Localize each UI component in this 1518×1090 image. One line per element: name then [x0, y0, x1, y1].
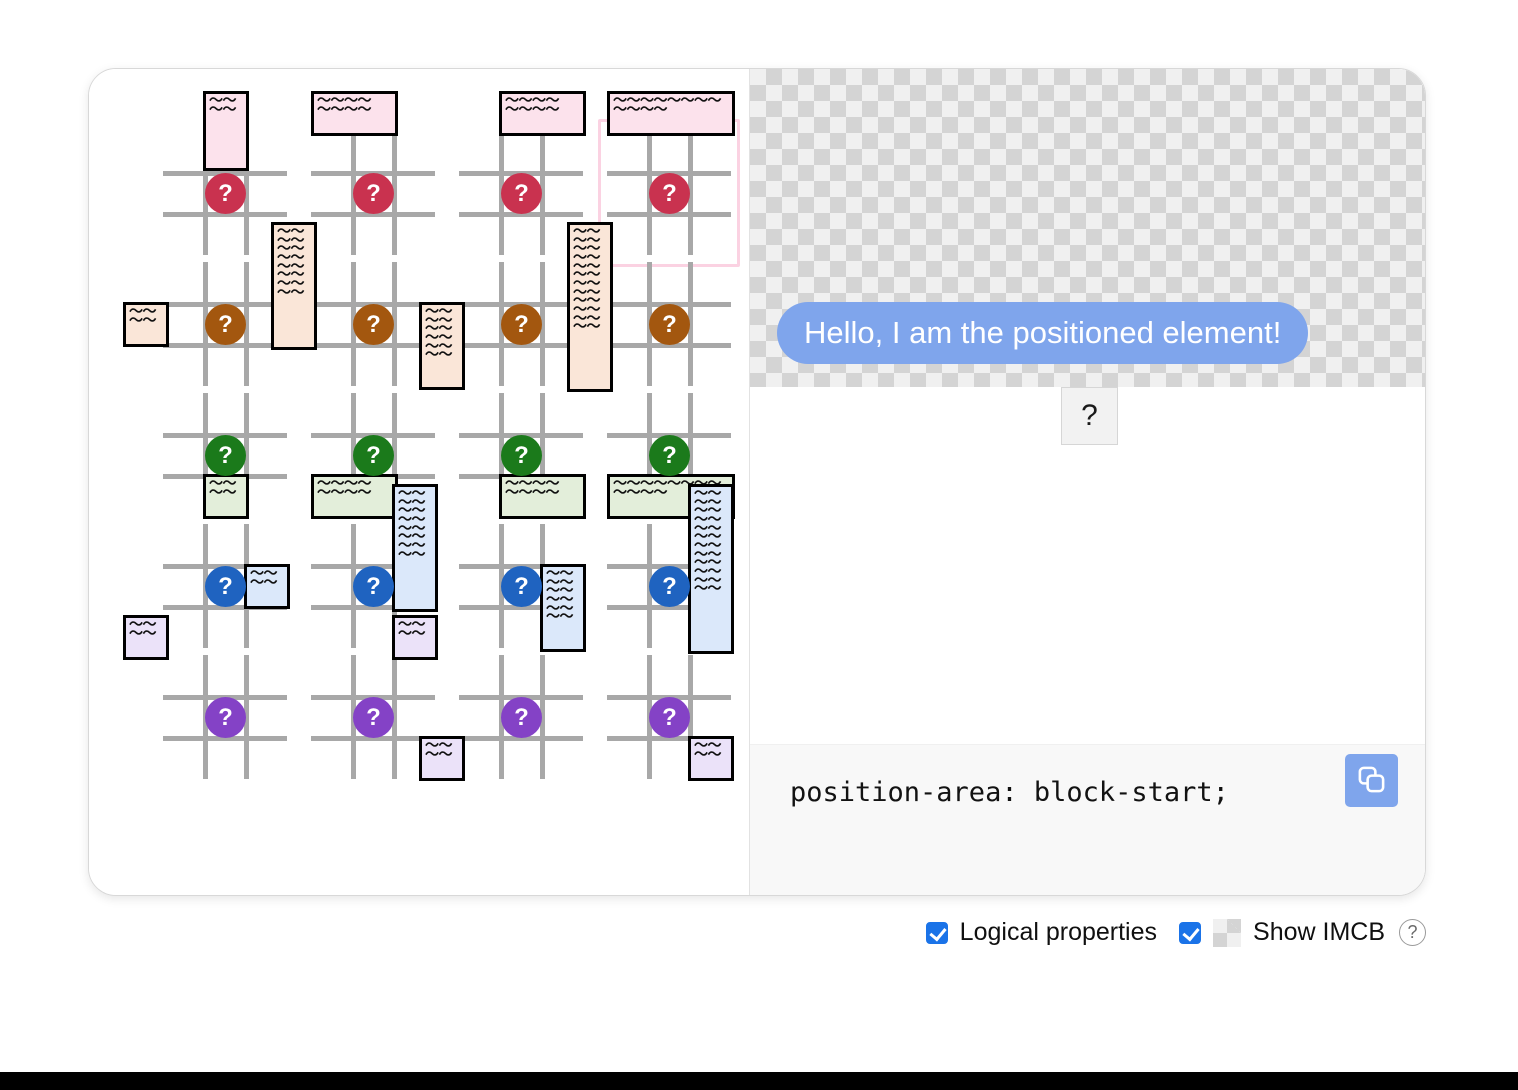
- option-diagram: 〜〜〜〜?: [163, 524, 287, 648]
- option-anchor-bubble: ?: [501, 173, 542, 214]
- option-positioned-box: 〜〜〜〜〜〜〜〜〜〜〜〜: [607, 91, 735, 136]
- option-anchor-bubble: ?: [501, 566, 542, 607]
- option-positioned-box: 〜〜〜〜: [123, 615, 169, 660]
- option-anchor-bubble: ?: [205, 566, 246, 607]
- option-diagram: 〜〜〜〜〜〜〜〜?: [311, 131, 435, 255]
- option-anchor-bubble: ?: [501, 304, 542, 345]
- position-area-option[interactable]: 〜〜〜〜〜〜〜〜〜〜〜〜〜〜〜〜〜〜〜〜〜〜〜〜?: [607, 262, 755, 393]
- anchor-element: ?: [1061, 387, 1118, 445]
- option-positioned-box: 〜〜〜〜〜〜〜〜: [499, 474, 586, 519]
- logical-properties-control[interactable]: Logical properties: [926, 918, 1157, 947]
- position-area-option[interactable]: 〜〜〜〜〜〜〜〜〜〜〜〜?: [459, 524, 607, 655]
- option-positioned-box: 〜〜〜〜: [688, 736, 734, 781]
- option-anchor-bubble: ?: [353, 435, 394, 476]
- option-positioned-box: 〜〜〜〜〜〜〜〜: [311, 91, 398, 136]
- bottom-black-bar: [0, 1072, 1518, 1090]
- position-area-options-pane: 〜〜〜〜?〜〜〜〜〜〜〜〜?〜〜〜〜〜〜〜〜?〜〜〜〜〜〜〜〜〜〜〜〜?〜〜〜〜…: [89, 69, 750, 895]
- positioned-element: Hello, I am the positioned element!: [777, 302, 1308, 364]
- option-diagram: 〜〜〜〜〜〜〜〜〜〜〜〜?: [607, 131, 731, 255]
- code-output-area: position-area: block-start;: [750, 744, 1425, 895]
- option-diagram: 〜〜〜〜〜〜〜〜?: [459, 131, 583, 255]
- option-diagram: 〜〜〜〜?: [459, 655, 583, 779]
- option-anchor-bubble: ?: [353, 566, 394, 607]
- option-diagram: 〜〜〜〜?: [163, 393, 287, 517]
- option-positioned-box: 〜〜〜〜: [203, 91, 249, 171]
- footer-controls: Logical properties Show IMCB ?: [0, 918, 1426, 947]
- option-positioned-box: 〜〜〜〜〜〜〜〜〜〜〜〜: [419, 302, 465, 390]
- position-area-options-grid: 〜〜〜〜?〜〜〜〜〜〜〜〜?〜〜〜〜〜〜〜〜?〜〜〜〜〜〜〜〜〜〜〜〜?〜〜〜〜…: [163, 131, 755, 786]
- option-anchor-bubble: ?: [649, 435, 690, 476]
- preview-canvas: Hello, I am the positioned element!: [750, 69, 1425, 387]
- option-positioned-box: 〜〜〜〜〜〜〜〜〜〜〜〜〜〜〜〜〜〜〜〜〜〜〜〜: [567, 222, 613, 392]
- option-positioned-box: 〜〜〜〜: [419, 736, 465, 781]
- option-anchor-bubble: ?: [501, 435, 542, 476]
- option-positioned-box: 〜〜〜〜: [392, 615, 438, 660]
- option-diagram: 〜〜〜〜〜〜〜〜〜〜〜〜〜〜〜〜?: [311, 262, 435, 386]
- option-anchor-bubble: ?: [353, 173, 394, 214]
- option-positioned-box: 〜〜〜〜: [244, 564, 290, 609]
- option-anchor-bubble: ?: [205, 173, 246, 214]
- option-diagram: 〜〜〜〜〜〜〜〜〜〜〜〜?: [459, 262, 583, 386]
- position-area-option[interactable]: 〜〜〜〜〜〜〜〜?: [459, 393, 607, 524]
- logical-properties-checkbox[interactable]: [926, 922, 948, 944]
- show-imcb-control[interactable]: Show IMCB ?: [1179, 918, 1426, 947]
- position-area-option[interactable]: 〜〜〜〜〜〜〜〜〜〜〜〜?: [607, 131, 755, 262]
- option-positioned-box: 〜〜〜〜〜〜〜〜〜〜〜〜〜〜〜〜: [271, 222, 317, 350]
- option-anchor-bubble: ?: [205, 304, 246, 345]
- option-positioned-box: 〜〜〜〜〜〜〜〜: [311, 474, 398, 519]
- position-area-option[interactable]: 〜〜〜〜?: [163, 524, 311, 655]
- preview-pane: Hello, I am the positioned element! ? po…: [750, 69, 1425, 895]
- option-anchor-bubble: ?: [353, 697, 394, 738]
- show-imcb-checkbox[interactable]: [1179, 922, 1201, 944]
- copy-code-button[interactable]: [1345, 754, 1398, 807]
- imcb-checkerboard-swatch: [1213, 919, 1241, 947]
- position-area-option[interactable]: 〜〜〜〜?: [163, 655, 311, 786]
- position-area-option[interactable]: 〜〜〜〜〜〜〜〜〜〜〜〜〜〜〜〜〜〜〜〜〜〜〜〜?: [607, 524, 755, 655]
- option-diagram: 〜〜〜〜?: [163, 131, 287, 255]
- position-area-option[interactable]: 〜〜〜〜?: [607, 655, 755, 786]
- option-positioned-box: 〜〜〜〜〜〜〜〜〜〜〜〜〜〜〜〜〜〜〜〜〜〜〜〜: [688, 484, 734, 654]
- option-diagram: 〜〜〜〜〜〜〜〜〜〜〜〜〜〜〜〜〜〜〜〜〜〜〜〜?: [607, 524, 731, 648]
- position-area-option[interactable]: 〜〜〜〜?: [459, 655, 607, 786]
- option-anchor-bubble: ?: [353, 304, 394, 345]
- option-anchor-bubble: ?: [205, 697, 246, 738]
- option-diagram: 〜〜〜〜〜〜〜〜〜〜〜〜〜〜〜〜〜〜〜〜〜〜〜〜?: [607, 262, 731, 386]
- option-diagram: 〜〜〜〜?: [163, 655, 287, 779]
- option-diagram: 〜〜〜〜〜〜〜〜?: [459, 393, 583, 517]
- position-area-option[interactable]: 〜〜〜〜?: [163, 393, 311, 524]
- visualizer-card: 〜〜〜〜?〜〜〜〜〜〜〜〜?〜〜〜〜〜〜〜〜?〜〜〜〜〜〜〜〜〜〜〜〜?〜〜〜〜…: [88, 68, 1426, 896]
- option-anchor-bubble: ?: [501, 697, 542, 738]
- code-snippet: position-area: block-start;: [790, 777, 1229, 808]
- option-anchor-bubble: ?: [649, 697, 690, 738]
- option-positioned-box: 〜〜〜〜〜〜〜〜: [499, 91, 586, 136]
- option-anchor-bubble: ?: [649, 566, 690, 607]
- position-area-option[interactable]: 〜〜〜〜〜〜〜〜?: [311, 131, 459, 262]
- option-anchor-bubble: ?: [649, 173, 690, 214]
- option-anchor-bubble: ?: [649, 304, 690, 345]
- option-diagram: 〜〜〜〜?: [311, 655, 435, 779]
- show-imcb-label[interactable]: Show IMCB: [1253, 918, 1385, 947]
- option-diagram: 〜〜〜〜?: [607, 655, 731, 779]
- option-positioned-box: 〜〜〜〜〜〜〜〜〜〜〜〜〜〜〜〜: [392, 484, 438, 612]
- logical-properties-label[interactable]: Logical properties: [960, 918, 1157, 947]
- option-positioned-box: 〜〜〜〜: [123, 302, 169, 347]
- copy-icon: [1356, 764, 1387, 798]
- option-positioned-box: 〜〜〜〜: [203, 474, 249, 519]
- option-diagram: 〜〜〜〜〜〜〜〜〜〜〜〜?: [459, 524, 583, 648]
- option-positioned-box: 〜〜〜〜〜〜〜〜〜〜〜〜: [540, 564, 586, 652]
- option-anchor-bubble: ?: [205, 435, 246, 476]
- option-diagram: 〜〜〜〜?: [163, 262, 287, 386]
- help-icon[interactable]: ?: [1399, 919, 1426, 946]
